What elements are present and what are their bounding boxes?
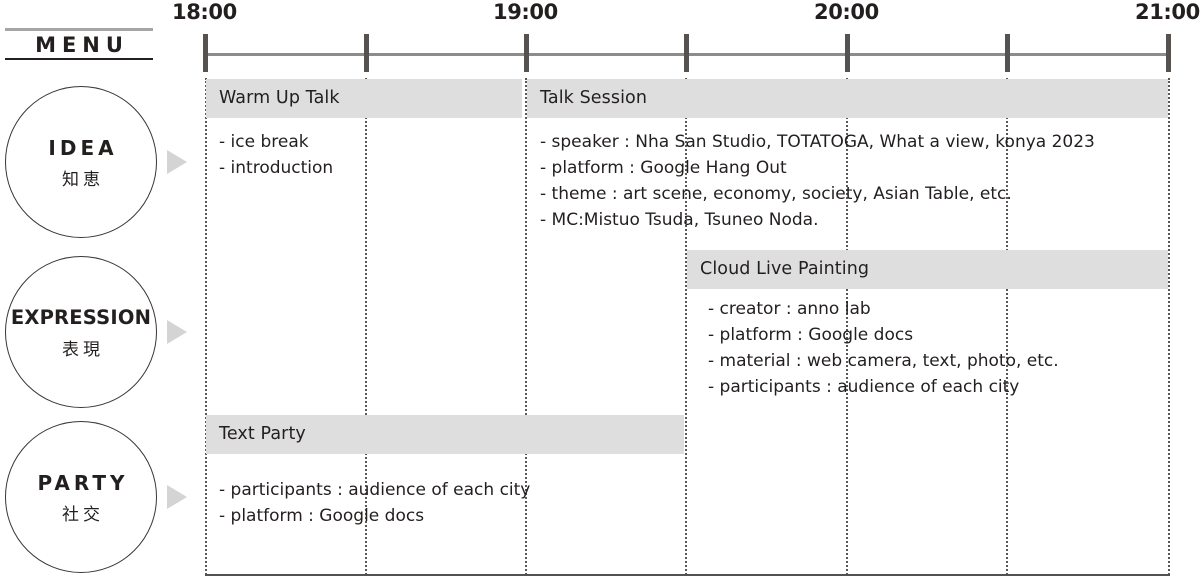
- event-bar-text-party[interactable]: Text Party: [206, 415, 684, 454]
- gridline-2100: [1168, 78, 1170, 575]
- event-title-text-party: Text Party: [219, 424, 306, 444]
- event-title-warm-up-talk: Warm Up Talk: [219, 88, 340, 108]
- event-detail-line: - platform : Google Hang Out: [540, 155, 1095, 181]
- event-title-talk-session: Talk Session: [540, 88, 647, 108]
- event-bar-talk-session[interactable]: Talk Session: [527, 79, 1168, 118]
- schedule-timeline-diagram: MENU IDEA 知恵 EXPRESSION 表現 PARTY 社交 18:0…: [0, 0, 1200, 585]
- event-title-cloud-live-painting: Cloud Live Painting: [700, 259, 869, 279]
- axis-tick-2030: [1005, 34, 1010, 72]
- event-detail-line: - creator : anno lab: [708, 296, 1059, 322]
- axis-label-2000: 20:00: [814, 0, 879, 24]
- event-details-talk-session: - speaker : Nha San Studio, TOTATOGA, Wh…: [540, 129, 1095, 233]
- axis-label-2100: 21:00: [1135, 0, 1200, 24]
- axis-tick-2100: [1166, 34, 1171, 72]
- axis-tick-1830: [364, 34, 369, 72]
- event-detail-line: - speaker : Nha San Studio, TOTATOGA, Wh…: [540, 129, 1095, 155]
- event-details-text-party: - participants : audience of each city -…: [219, 477, 530, 529]
- timeline-bottom-rule: [205, 574, 1170, 576]
- event-bar-warm-up-talk[interactable]: Warm Up Talk: [206, 79, 522, 118]
- event-details-cloud-live-painting: - creator : anno lab - platform : Google…: [708, 296, 1059, 400]
- axis-tick-2000: [845, 34, 850, 72]
- axis-tick-1930: [684, 34, 689, 72]
- axis-tick-1800: [203, 34, 208, 72]
- axis-tick-1900: [524, 34, 529, 72]
- event-detail-line: - platform : Google docs: [708, 322, 1059, 348]
- axis-label-1800: 18:00: [172, 0, 237, 24]
- timeline-area: 18:00 19:00 20:00 21:00 Warm Up Talk - i…: [0, 0, 1200, 585]
- event-detail-line: - platform : Google docs: [219, 503, 530, 529]
- event-detail-line: - ice break: [219, 129, 333, 155]
- axis-label-1900: 19:00: [493, 0, 558, 24]
- event-detail-line: - theme : art scene, economy, society, A…: [540, 181, 1095, 207]
- event-detail-line: - MC:Mistuo Tsuda, Tsuneo Noda.: [540, 207, 1095, 233]
- event-bar-cloud-live-painting[interactable]: Cloud Live Painting: [687, 250, 1168, 289]
- event-detail-line: - participants : audience of each city: [708, 374, 1059, 400]
- gridline-1800: [205, 78, 207, 575]
- event-details-warm-up-talk: - ice break - introduction: [219, 129, 333, 181]
- event-detail-line: - introduction: [219, 155, 333, 181]
- event-detail-line: - participants : audience of each city: [219, 477, 530, 503]
- event-detail-line: - material : web camera, text, photo, et…: [708, 348, 1059, 374]
